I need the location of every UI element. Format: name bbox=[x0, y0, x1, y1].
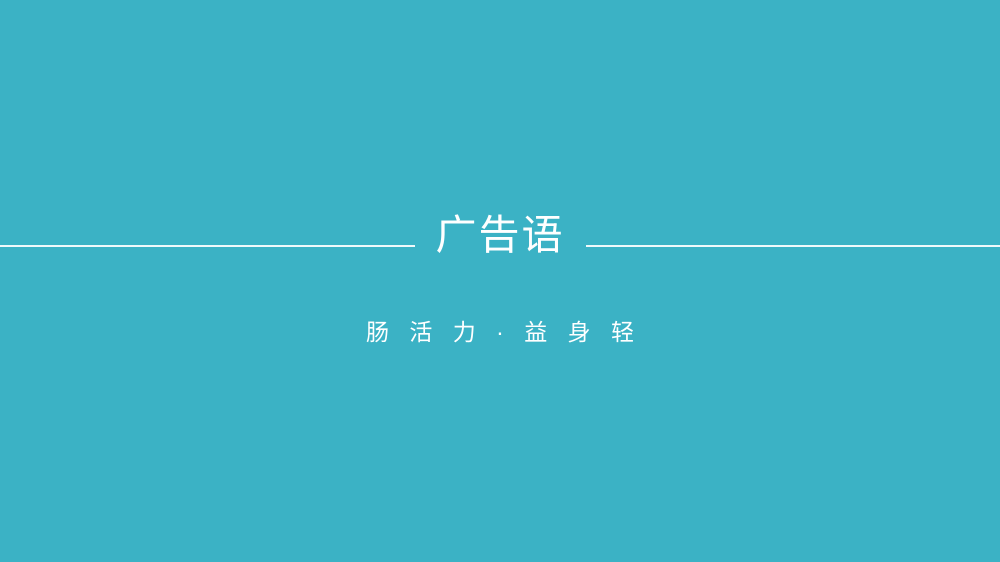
slide-title: 广告语 bbox=[418, 212, 583, 259]
title-container: 广告语 bbox=[0, 212, 1000, 259]
slide-subtitle: 肠 活 力 · 益 身 轻 bbox=[359, 316, 641, 348]
slide-canvas: 广告语 肠 活 力 · 益 身 轻 bbox=[0, 0, 1000, 562]
subtitle-container: 肠 活 力 · 益 身 轻 bbox=[0, 316, 1000, 348]
